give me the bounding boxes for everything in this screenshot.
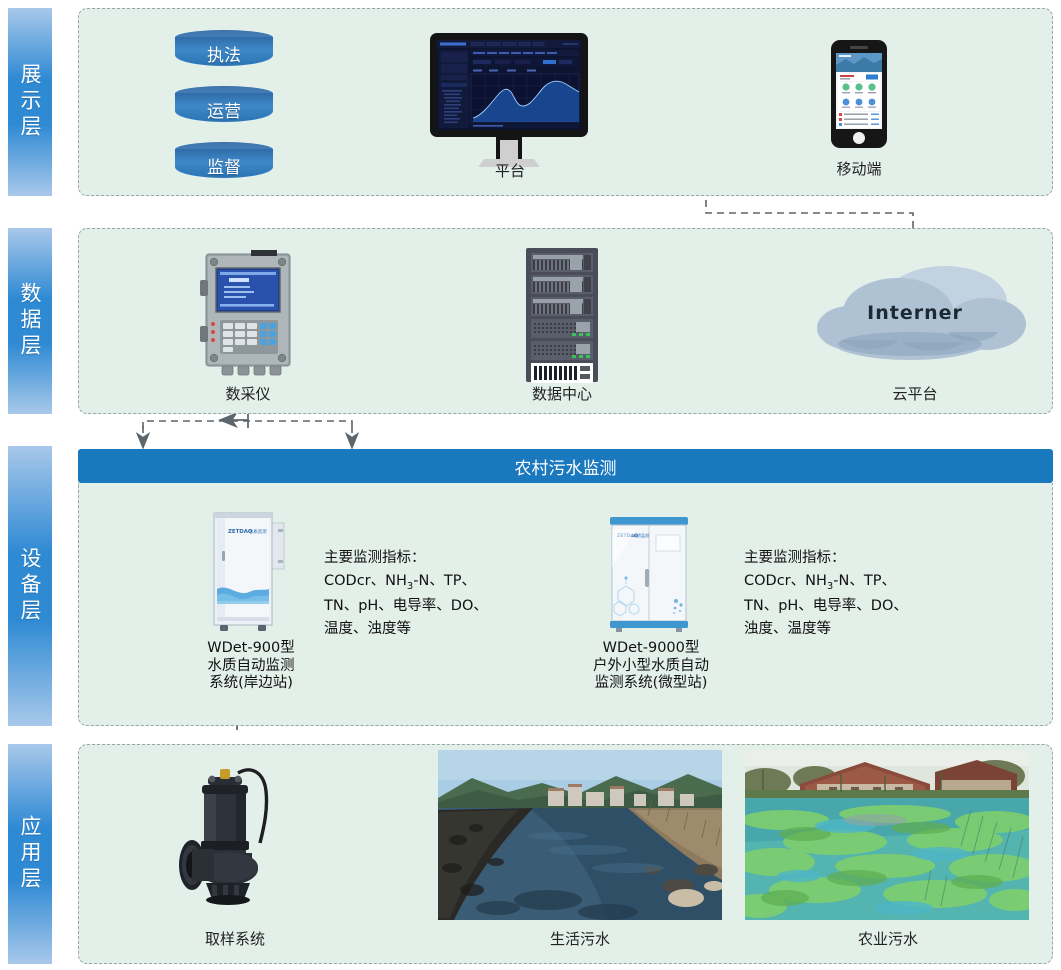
data-logger-device[interactable]: [196, 248, 296, 376]
mobile-caption: 移动端: [789, 158, 929, 179]
device-wdet900-cabinet[interactable]: ZETDAQ 水质监测: [208, 505, 292, 635]
rack-bay: [531, 253, 593, 272]
photo-domestic-sewage-caption: 生活污水: [510, 928, 650, 949]
caption-line: 系统(岸边站): [182, 675, 320, 693]
cloud-caption: 云平台: [845, 383, 985, 404]
agricultural-sewage-photo: [745, 750, 1029, 920]
indicator-line: 温度、浊度等: [324, 618, 488, 641]
rack-bay: [531, 341, 593, 360]
cylinder-operation-label: 运营: [175, 97, 273, 122]
cylinder-enforcement-label: 执法: [175, 41, 273, 66]
platform-caption: 平台: [440, 160, 580, 181]
sidebar-tab-equipment[interactable]: 设备层: [8, 446, 52, 726]
photo-agricultural-sewage-caption: 农业污水: [818, 928, 958, 949]
caption-line: WDet-9000型: [573, 640, 729, 658]
dashboard-chart: [437, 40, 581, 130]
indicator-title: 主要监测指标：: [744, 547, 908, 570]
data-logger-caption: 数采仪: [186, 383, 310, 404]
svg-text:水质监测: 水质监测: [249, 528, 267, 535]
wdet900-illustration: ZETDAQ 水质监测: [208, 505, 292, 635]
phone-speaker: [850, 46, 868, 49]
datacenter-caption: 数据中心: [500, 383, 624, 404]
device-wdet900-caption: WDet-900型 水质自动监测 系统(岸边站): [182, 640, 320, 693]
mobile-device[interactable]: [831, 40, 887, 148]
indicators-wdet9000: 主要监测指标： CODcr、NH3-N、TP、 TN、pH、电导率、DO、 浊度…: [744, 547, 908, 640]
sidebar-tab-application[interactable]: 应用层: [8, 744, 52, 964]
caption-line: 户外小型水质自动: [573, 658, 729, 676]
indicator-title: 主要监测指标：: [324, 547, 488, 570]
phone-app-ui: [836, 53, 882, 129]
rack-bay: [531, 297, 593, 316]
monitor-screen: [437, 40, 581, 130]
sidebar-tab-equipment-label: 设备层: [19, 547, 41, 625]
domestic-sewage-photo: [438, 750, 722, 920]
rack-bay: [531, 275, 593, 294]
sidebar-tab-data-label: 数据层: [19, 282, 41, 360]
indicator-line: 浊度、温度等: [744, 618, 908, 641]
svg-text:水质监测: 水质监测: [633, 532, 649, 538]
sidebar-tab-display[interactable]: 展示层: [8, 8, 52, 196]
rack-psu: [531, 363, 593, 383]
cylinder-operation[interactable]: 运营: [175, 86, 273, 128]
cloud-platform[interactable]: Interner: [790, 262, 1040, 372]
photo-agricultural-sewage[interactable]: [745, 750, 1029, 920]
cloud-text: Interner: [790, 302, 1040, 324]
caption-line: 监测系统(微型站): [573, 675, 729, 693]
indicator-line: TN、pH、电导率、DO、: [324, 595, 488, 618]
indicator-line: CODcr、NH3-N、TP、: [744, 570, 908, 595]
monitor-stand: [500, 140, 518, 159]
banner-rural-sewage-monitoring: 农村污水监测: [78, 449, 1053, 483]
device-wdet9000-caption: WDet-9000型 户外小型水质自动 监测系统(微型站): [573, 640, 729, 693]
caption-line: 水质自动监测: [182, 658, 320, 676]
caption-line: WDet-900型: [182, 640, 320, 658]
phone-screen: [836, 53, 882, 129]
phone-home-button[interactable]: [853, 132, 865, 144]
cylinder-supervision[interactable]: 监督: [175, 142, 273, 184]
banner-title: 农村污水监测: [515, 454, 617, 479]
cylinder-supervision-label: 监督: [175, 153, 273, 178]
pump-caption: 取样系统: [170, 928, 300, 949]
sidebar-tab-display-label: 展示层: [19, 63, 41, 141]
rack-bay: [531, 319, 593, 338]
sidebar-tab-data[interactable]: 数据层: [8, 228, 52, 414]
indicators-wdet900: 主要监测指标： CODcr、NH3-N、TP、 TN、pH、电导率、DO、 温度…: [324, 547, 488, 640]
cylinder-enforcement[interactable]: 执法: [175, 30, 273, 72]
sampling-pump[interactable]: [160, 757, 310, 911]
indicator-line: TN、pH、电导率、DO、: [744, 595, 908, 618]
photo-domestic-sewage[interactable]: [438, 750, 722, 920]
pump-illustration: [160, 757, 310, 907]
device-wdet9000-cabinet[interactable]: ZETDAQ 水质监测: [604, 513, 696, 635]
data-logger-illustration: [196, 248, 300, 380]
wdet9000-illustration: ZETDAQ 水质监测: [604, 513, 696, 635]
indicator-line: CODcr、NH3-N、TP、: [324, 570, 488, 595]
sidebar-tab-application-label: 应用层: [19, 815, 41, 893]
monitor-bezel: [430, 33, 588, 137]
datacenter-rack[interactable]: [526, 248, 598, 382]
